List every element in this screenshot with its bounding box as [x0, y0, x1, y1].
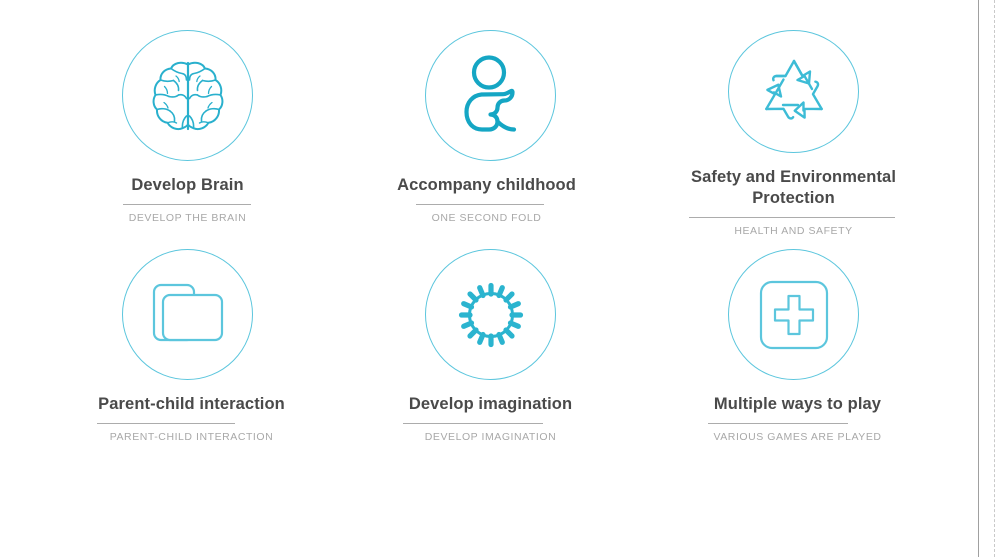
feature-title: Develop Brain: [131, 175, 243, 196]
feature-card-safety-environmental-protection[interactable]: Safety and Environmental Protection HEAL…: [642, 18, 945, 237]
right-edge-rule: [978, 0, 979, 557]
feature-title: Develop imagination: [409, 394, 572, 415]
label-block: Develop imagination DEVELOP IMAGINATION: [339, 394, 642, 443]
label-block: Safety and Environmental Protection HEAL…: [642, 167, 945, 237]
icon-circle: [122, 30, 253, 161]
icon-circle: [425, 249, 556, 380]
brain-icon: [142, 50, 234, 142]
feature-grid: Develop Brain DEVELOP THE BRAIN Accompan…: [36, 18, 946, 456]
label-block: Parent-child interaction PARENT-CHILD IN…: [40, 394, 343, 443]
folder-icon: [146, 273, 230, 357]
icon-circle: [728, 30, 859, 153]
feature-grid-page: Develop Brain DEVELOP THE BRAIN Accompan…: [0, 0, 1000, 557]
feature-card-develop-imagination[interactable]: Develop imagination DEVELOP IMAGINATION: [339, 237, 642, 456]
title-divider: [123, 204, 251, 205]
label-block: Develop Brain DEVELOP THE BRAIN: [36, 175, 339, 224]
title-divider: [708, 423, 848, 424]
feature-card-accompany-childhood[interactable]: Accompany childhood ONE SECOND FOLD: [339, 18, 642, 237]
feature-title: Multiple ways to play: [714, 394, 881, 415]
feature-title: Parent-child interaction: [98, 394, 285, 415]
recycle-icon: [752, 49, 836, 133]
icon-circle: [122, 249, 253, 380]
feature-card-multiple-ways-to-play[interactable]: Multiple ways to play VARIOUS GAMES ARE …: [642, 237, 945, 456]
feature-subtitle: HEALTH AND SAFETY: [734, 225, 852, 237]
feature-card-develop-brain[interactable]: Develop Brain DEVELOP THE BRAIN: [36, 18, 339, 237]
feature-card-parent-child-interaction[interactable]: Parent-child interaction PARENT-CHILD IN…: [36, 237, 339, 456]
feature-title: Safety and Environmental Protection: [664, 167, 924, 209]
label-block: Accompany childhood ONE SECOND FOLD: [335, 175, 638, 224]
feature-subtitle: DEVELOP THE BRAIN: [129, 212, 247, 224]
label-block: Multiple ways to play VARIOUS GAMES ARE …: [646, 394, 949, 443]
icon-circle: [425, 30, 556, 161]
title-divider: [689, 217, 895, 218]
feature-subtitle: VARIOUS GAMES ARE PLAYED: [713, 431, 881, 443]
plus-square-icon: [752, 273, 836, 357]
title-divider: [97, 423, 235, 424]
feature-title: Accompany childhood: [397, 175, 576, 196]
title-divider: [416, 204, 544, 205]
feature-subtitle: PARENT-CHILD INTERACTION: [110, 431, 274, 443]
feature-subtitle: DEVELOP IMAGINATION: [425, 431, 556, 443]
feature-subtitle: ONE SECOND FOLD: [432, 212, 542, 224]
icon-circle: [728, 249, 859, 380]
sun-icon: [449, 273, 533, 357]
title-divider: [403, 423, 543, 424]
right-edge-dashed-guide: [994, 0, 996, 557]
baby-icon: [445, 50, 537, 142]
